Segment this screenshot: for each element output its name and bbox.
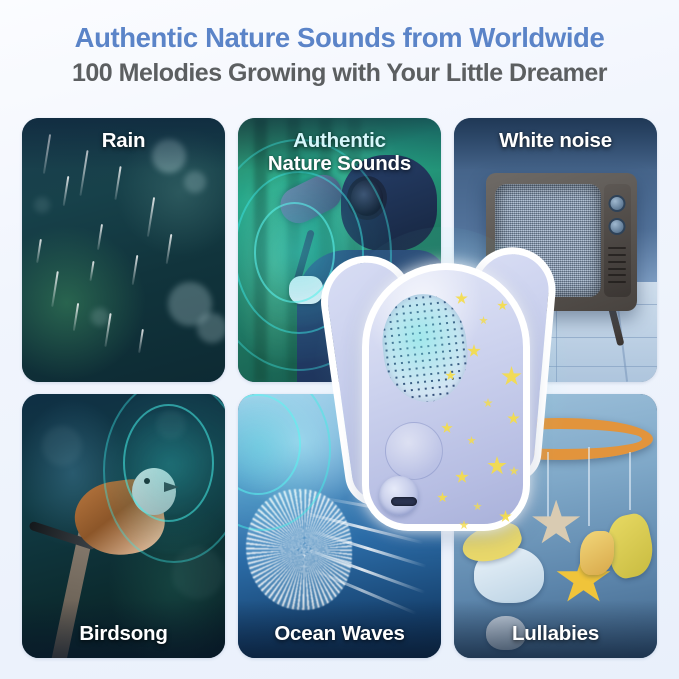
star-decal xyxy=(501,366,522,387)
star-decal xyxy=(479,316,488,325)
star-decal xyxy=(473,502,482,511)
star-decal xyxy=(455,470,469,484)
plush-fish-orange xyxy=(580,531,614,575)
tv-control-panel xyxy=(604,184,631,297)
boom-microphone-icon xyxy=(274,169,347,229)
speaker-grille-icon xyxy=(378,290,473,406)
tv-knob-lower xyxy=(609,218,626,235)
star-decal xyxy=(487,456,507,476)
star-decal xyxy=(497,300,508,311)
tile-label-birdsong: Birdsong xyxy=(22,623,225,646)
star-decal xyxy=(441,422,453,434)
tv-knob-upper xyxy=(609,195,626,212)
product-bunny-sound-machine[interactable] xyxy=(330,245,555,535)
star-decal xyxy=(437,492,448,503)
gloved-hand xyxy=(289,276,323,304)
tile-label-lullabies: Lullabies xyxy=(454,623,657,646)
star-decal xyxy=(459,520,469,530)
star-decal xyxy=(507,412,520,425)
tile-label-line2: Nature Sounds xyxy=(268,152,411,175)
tile-rain[interactable]: Rain xyxy=(22,118,225,382)
usb-c-port xyxy=(391,497,417,506)
power-button[interactable] xyxy=(379,476,419,516)
tile-label-white-noise: White noise xyxy=(454,130,657,153)
headphones-icon xyxy=(347,176,387,220)
page-subtitle: 100 Melodies Growing with Your Little Dr… xyxy=(0,57,679,90)
star-decal xyxy=(467,436,476,445)
tile-label-ocean-waves: Ocean Waves xyxy=(238,623,441,646)
star-decal xyxy=(467,344,481,358)
page-title: Authentic Nature Sounds from Worldwide xyxy=(0,22,679,54)
star-decal xyxy=(499,510,512,523)
tile-birdsong[interactable]: Birdsong xyxy=(22,394,225,658)
star-decal xyxy=(509,466,519,476)
star-decal xyxy=(455,292,468,305)
tile-label-rain: Rain xyxy=(22,130,225,153)
tile-label-authentic-nature-sounds: Authentic Nature Sounds xyxy=(238,130,441,176)
device-body xyxy=(362,263,530,531)
bird-beak xyxy=(164,482,179,492)
page-header: Authentic Nature Sounds from Worldwide 1… xyxy=(0,0,679,89)
button-cluster[interactable] xyxy=(385,422,443,480)
star-decal xyxy=(483,398,493,408)
tile-label-line1: Authentic xyxy=(238,130,441,153)
